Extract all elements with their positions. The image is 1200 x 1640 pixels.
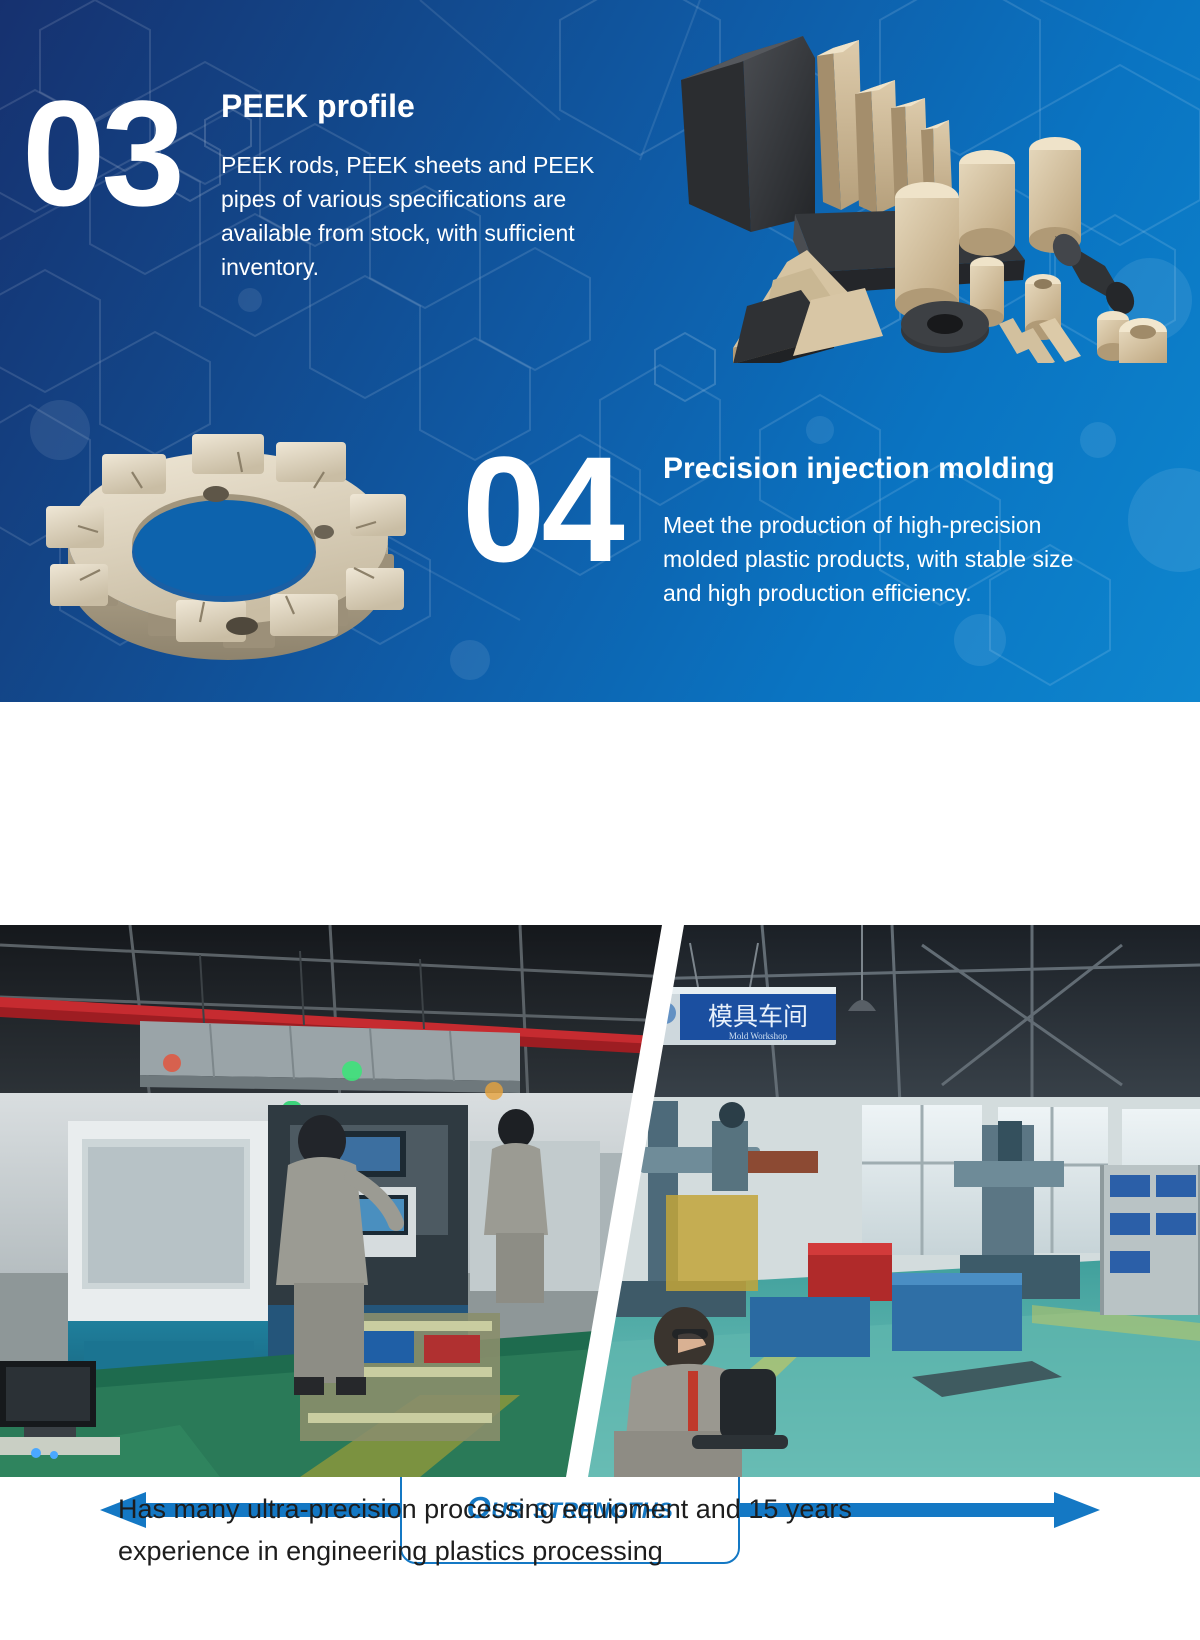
item-body-03: PEEK rods, PEEK sheets and PEEK pipes of…	[221, 148, 641, 284]
black-tube	[1047, 229, 1140, 319]
tan-tube-right	[1097, 311, 1167, 363]
sign-text-en: Mold Workshop	[729, 1031, 788, 1041]
item-title-03: PEEK profile	[221, 88, 415, 125]
peek-profiles-collage	[615, 18, 1175, 363]
marketing-banner-page: 03 PEEK profile PEEK rods, PEEK sheets a…	[0, 0, 1200, 1640]
caption-line-2: experience in engineering plastics proce…	[0, 1530, 1200, 1572]
hero-section: 03 PEEK profile PEEK rods, PEEK sheets a…	[0, 0, 1200, 702]
peek-gear-ring	[38, 408, 418, 678]
bottom-caption: Has many ultra-precision processing equi…	[0, 1488, 1200, 1572]
storage-rack	[1102, 1165, 1200, 1315]
black-block-large	[681, 36, 815, 232]
tan-rod-group	[999, 318, 1081, 363]
item-number-04: 04	[462, 438, 621, 581]
mold-workshop-photo: 模具车间 Mold Workshop	[562, 925, 1200, 1477]
black-ring	[901, 301, 989, 353]
caption-line-1: Has many ultra-precision processing equi…	[0, 1488, 1200, 1530]
mold-workshop-sign: 模具车间 Mold Workshop	[650, 987, 836, 1045]
sign-text-cn: 模具车间	[708, 1002, 808, 1031]
cnc-machining-workshop-photo	[0, 925, 672, 1477]
item-number-03: 03	[22, 82, 181, 225]
item-title-04: Precision injection molding	[663, 452, 1055, 486]
workshop-photo-strip: 模具车间 Mold Workshop	[0, 925, 1200, 1477]
item-body-04: Meet the production of high-precision mo…	[663, 508, 1093, 610]
strengths-band: Our strengths	[0, 702, 1200, 914]
